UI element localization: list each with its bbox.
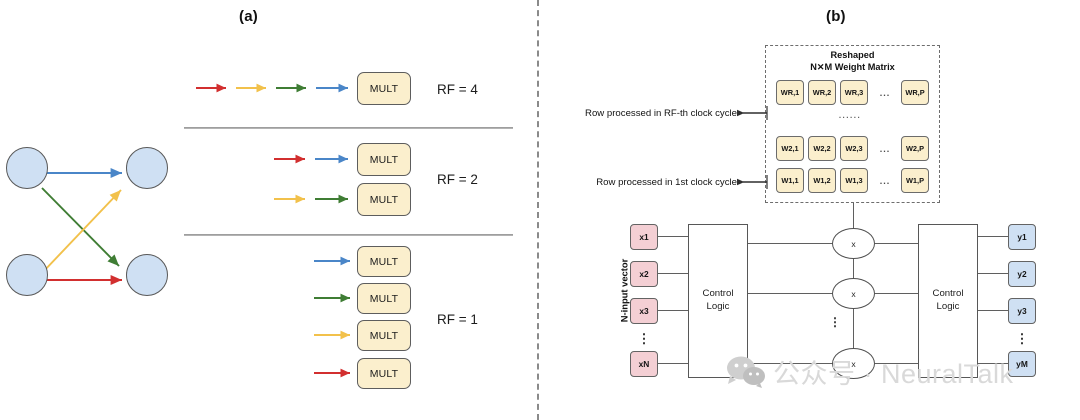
mult-block: MULT [357, 72, 411, 105]
multiplier-circle: x [832, 278, 875, 309]
input-vector-item: x3 [630, 298, 658, 324]
group-divider-1 [184, 127, 513, 129]
rf4-arrow-row [196, 78, 356, 98]
graph-edge-yellow [42, 190, 121, 273]
rf-label-4: RF = 4 [437, 82, 478, 97]
control-logic-left-line-1: Control [703, 288, 734, 301]
graph-edge-green [42, 188, 119, 266]
output-node-1 [126, 147, 168, 189]
control-logic-left-line-2: Logic [703, 301, 734, 314]
output-vector-item: y1 [1008, 224, 1036, 250]
panel-divider [537, 0, 539, 420]
mult-block: MULT [357, 143, 411, 176]
input-vector-item: xN [630, 351, 658, 377]
control-logic-right: Control Logic [918, 224, 978, 378]
input-wire [658, 236, 688, 237]
input-vector-ellipsis: ⋮ [630, 326, 658, 350]
weight-cell: W2,1 [776, 136, 804, 161]
matrix-title-line-1: Reshaped [765, 50, 940, 62]
output-vector-ellipsis: ⋮ [1008, 326, 1036, 350]
weight-cell: W1,2 [808, 168, 836, 193]
annotation-arrow-top [737, 104, 769, 122]
weight-cell: W1,P [901, 168, 929, 193]
mult-block: MULT [357, 358, 411, 389]
mult-input-wire [748, 243, 834, 244]
input-wire [658, 363, 688, 364]
weight-cell: WR,1 [776, 80, 804, 105]
rf1-arrow-row-3 [314, 325, 358, 345]
weight-cell: W2,P [901, 136, 929, 161]
input-wire [658, 273, 688, 274]
output-node-2 [126, 254, 168, 296]
group-divider-2 [184, 234, 513, 236]
weight-cell: WR,P [901, 80, 929, 105]
mult-output-wire [875, 243, 918, 244]
control-logic-right-line-1: Control [933, 288, 964, 301]
input-vector-axis-label: N-input vector [619, 253, 630, 329]
input-vector-item: x2 [630, 261, 658, 287]
input-wire [658, 310, 688, 311]
weight-matrix-title: Reshaped N✕M Weight Matrix [765, 50, 940, 74]
panel-a-label: (a) [239, 8, 258, 25]
weight-row-ellipsis: ... [872, 168, 898, 193]
weight-cell: W2,3 [840, 136, 868, 161]
mult-block: MULT [357, 183, 411, 216]
weight-cell: W2,2 [808, 136, 836, 161]
output-wire [978, 236, 1008, 237]
output-vector-item: yM [1008, 351, 1036, 377]
input-node-1 [6, 147, 48, 189]
mult-output-wire [875, 293, 918, 294]
output-wire [978, 310, 1008, 311]
rf-label-1: RF = 1 [437, 312, 478, 327]
output-vector-item: y3 [1008, 298, 1036, 324]
weight-cell: WR,3 [840, 80, 868, 105]
weight-matrix-row-gap-dots: ...... [820, 111, 880, 120]
figure-root: (a) [0, 0, 1080, 420]
weight-cell: W1,3 [840, 168, 868, 193]
multiplier-circle: x [832, 228, 875, 259]
weight-row-ellipsis: ... [872, 80, 898, 105]
input-node-2 [6, 254, 48, 296]
weight-cell: W1,1 [776, 168, 804, 193]
panel-b-label: (b) [826, 8, 846, 25]
rf2-arrow-row-2 [274, 189, 356, 209]
control-logic-left: Control Logic [688, 224, 748, 378]
output-wire [978, 363, 1008, 364]
annotation-rf-th-clock-cycle: Row processed in RF-th clock cycle [449, 108, 737, 119]
mult-block: MULT [357, 320, 411, 351]
output-wire [978, 273, 1008, 274]
output-vector-item: y2 [1008, 261, 1036, 287]
weight-cell: WR,2 [808, 80, 836, 105]
multiplier-column-ellipsis: ⋮ [829, 316, 841, 328]
weight-row-ellipsis: ... [872, 136, 898, 161]
rf2-arrow-row-1 [274, 149, 356, 169]
rf1-arrow-row-2 [314, 288, 358, 308]
annotation-first-clock-cycle: Row processed in 1st clock cycle [449, 177, 737, 188]
input-vector-item: x1 [630, 224, 658, 250]
matrix-title-line-2: N✕M Weight Matrix [765, 62, 940, 74]
multiplier-circle: x [832, 348, 875, 379]
mult-input-wire [748, 293, 834, 294]
control-logic-right-line-2: Logic [933, 301, 964, 314]
annotation-arrow-bottom [737, 173, 769, 191]
mult-output-wire [875, 363, 918, 364]
mult-block: MULT [357, 246, 411, 277]
mult-input-wire [748, 363, 834, 364]
rf1-arrow-row-4 [314, 363, 358, 383]
rf1-arrow-row-1 [314, 251, 358, 271]
mult-block: MULT [357, 283, 411, 314]
